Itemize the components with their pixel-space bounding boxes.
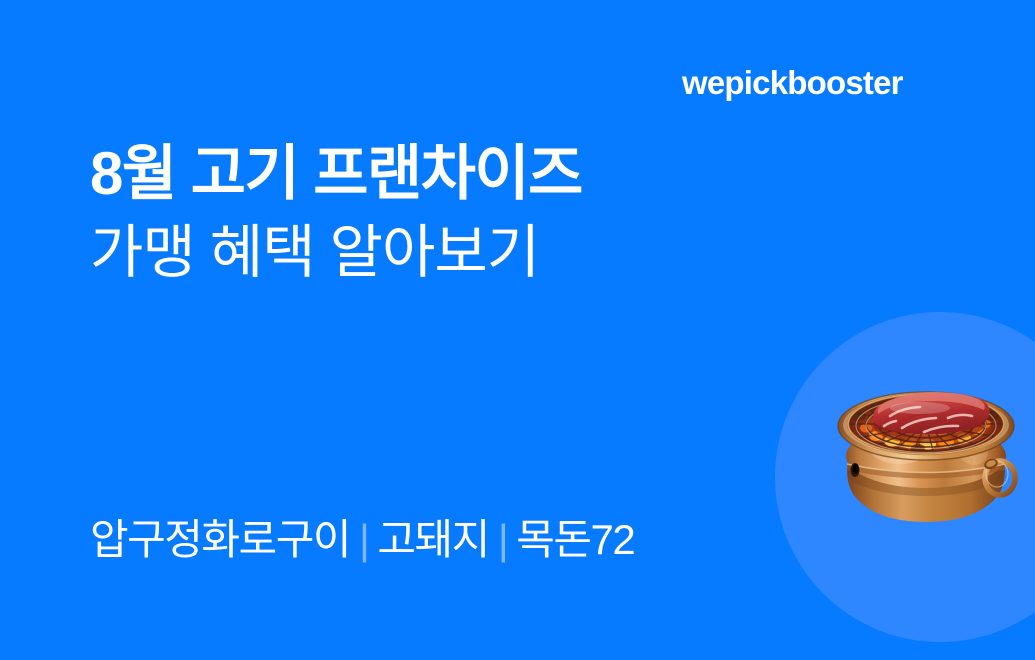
headline-line-2: 가맹 혜택 알아보기 (90, 224, 582, 282)
headline: 8월 고기 프랜차이즈 가맹 혜택 알아보기 (90, 144, 582, 282)
brand-name-2: 고돼지 (377, 516, 488, 563)
wepickbooster-logo: wepickbooster (682, 66, 903, 99)
promo-banner: wepickbooster 8월 고기 프랜차이즈 가맹 혜택 알아보기 압구정… (0, 0, 1035, 660)
brand-name-3: 목돈72 (516, 516, 634, 563)
korean-charcoal-grill-icon (828, 386, 1024, 534)
brand-separator: | (350, 516, 377, 563)
brand-separator: | (489, 516, 516, 563)
brand-list: 압구정화로구이|고돼지|목돈72 (90, 517, 634, 563)
brand-name-1: 압구정화로구이 (90, 516, 350, 563)
headline-line-1: 8월 고기 프랜차이즈 (90, 144, 582, 204)
